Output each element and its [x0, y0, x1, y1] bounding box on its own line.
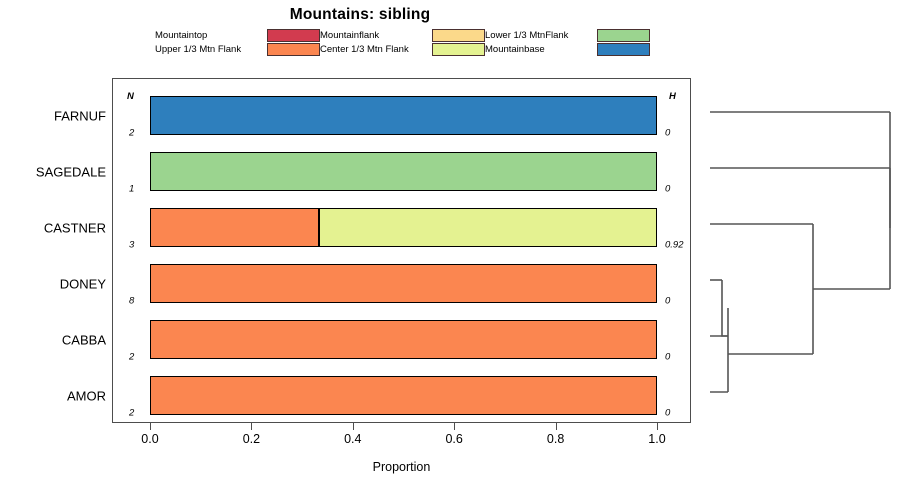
x-tick-mark — [454, 423, 455, 430]
dendrogram-svg — [700, 0, 900, 500]
x-tick-mark — [150, 423, 151, 430]
x-tick-label: 0.8 — [536, 432, 576, 446]
x-tick-mark — [353, 423, 354, 430]
chart-canvas: Mountains: sibling MountaintopUpper 1/3 … — [0, 0, 900, 500]
dendro-node-doney-cabba — [722, 280, 728, 336]
x-tick-label: 0.4 — [333, 432, 373, 446]
x-tick-label: 0.2 — [231, 432, 271, 446]
x-axis-title: Proportion — [112, 460, 691, 474]
x-tick-label: 0.6 — [434, 432, 474, 446]
x-tick-label: 0.0 — [130, 432, 170, 446]
x-tick-mark — [251, 423, 252, 430]
dendrogram — [700, 0, 900, 500]
x-tick-mark — [657, 423, 658, 430]
x-tick-label: 1.0 — [637, 432, 677, 446]
x-tick-mark — [556, 423, 557, 430]
